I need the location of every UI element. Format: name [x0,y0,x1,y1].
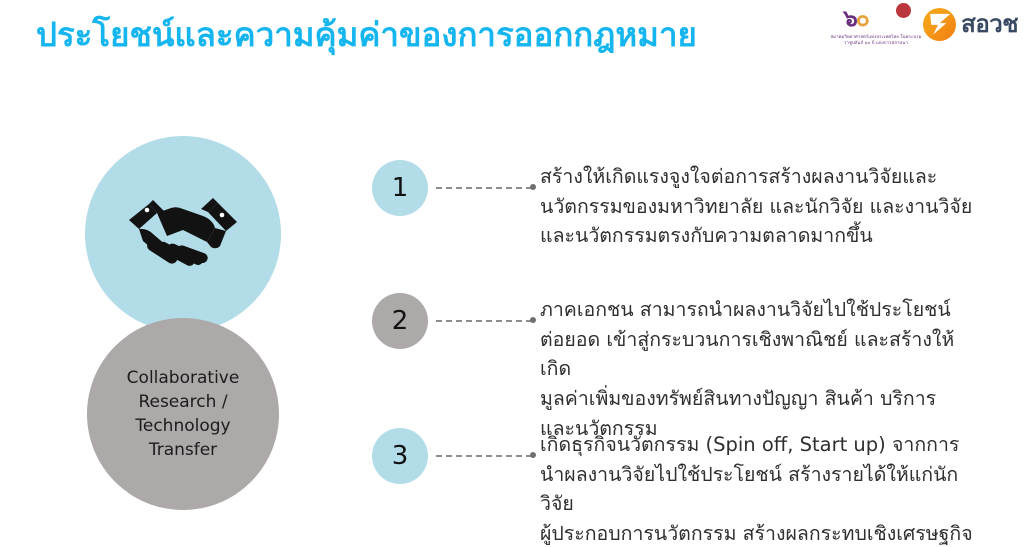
benefit-number-badge-3[interactable]: 3 [372,428,428,484]
benefit-item-3: 3 เกิดธุรกิจนวัตกรรม (Spin off, Start up… [372,428,980,547]
digit-six: ๖ [843,6,856,32]
nxpo-logo: สอวช [923,8,1018,41]
benefit-text-3: เกิดธุรกิจนวัตกรรม (Spin off, Start up) … [540,428,980,547]
benefit-number-badge-1[interactable]: 1 [372,160,428,216]
logo-bar: ๖๐ สมาคมวิทยาศาสตร์แห่งประเทศไทย ในพระบร… [839,2,1018,46]
benefit-number-badge-2[interactable]: 2 [372,293,428,349]
benefit-connector-2 [428,293,540,349]
collaborative-label-circle: Collaborative Research / Technology Tran… [87,318,279,510]
anniversary-60-logo: ๖๐ สมาคมวิทยาศาสตร์แห่งประเทศไทย ในพระบร… [839,3,913,45]
connector-end-dot-icon [530,452,536,458]
connector-end-dot-icon [530,184,536,190]
benefit-item-1: 1 สร้างให้เกิดแรงจูงใจต่อการสร้างผลงานวิ… [372,160,972,251]
nxpo-wordmark: สอวช [961,12,1018,36]
anniversary-60-marks: ๖๐ [839,3,913,33]
anniversary-60-digits: ๖๐ [843,8,868,30]
dashed-line [436,320,532,322]
dashed-line [436,187,532,189]
handshake-icon [123,184,243,284]
royal-emblem-icon [896,3,911,18]
dashed-line [436,455,532,457]
digit-zero: ๐ [856,6,868,32]
connector-end-dot-icon [530,317,536,323]
benefit-text-2: ภาคเอกชน สามารถนำผลงานวิจัยไปใช้ประโยชน์… [540,293,980,443]
nxpo-arrow-icon [923,8,956,41]
slide-canvas: ประโยชน์และความคุ้มค่าของการออกกฎหมาย ๖๐… [0,0,1024,547]
collaborative-circle-stack: Collaborative Research / Technology Tran… [85,136,285,516]
benefit-text-1: สร้างให้เกิดแรงจูงใจต่อการสร้างผลงานวิจั… [540,160,972,251]
benefit-item-2: 2 ภาคเอกชน สามารถนำผลงานวิจัยไปใช้ประโยช… [372,293,980,443]
page-title: ประโยชน์และความคุ้มค่าของการออกกฎหมาย [36,14,697,55]
anniversary-60-caption: สมาคมวิทยาศาสตร์แห่งประเทศไทย ในพระบรมรา… [830,34,923,46]
collaborative-label-text: Collaborative Research / Technology Tran… [127,366,240,463]
benefit-connector-1 [428,160,540,216]
benefit-connector-3 [428,428,540,484]
